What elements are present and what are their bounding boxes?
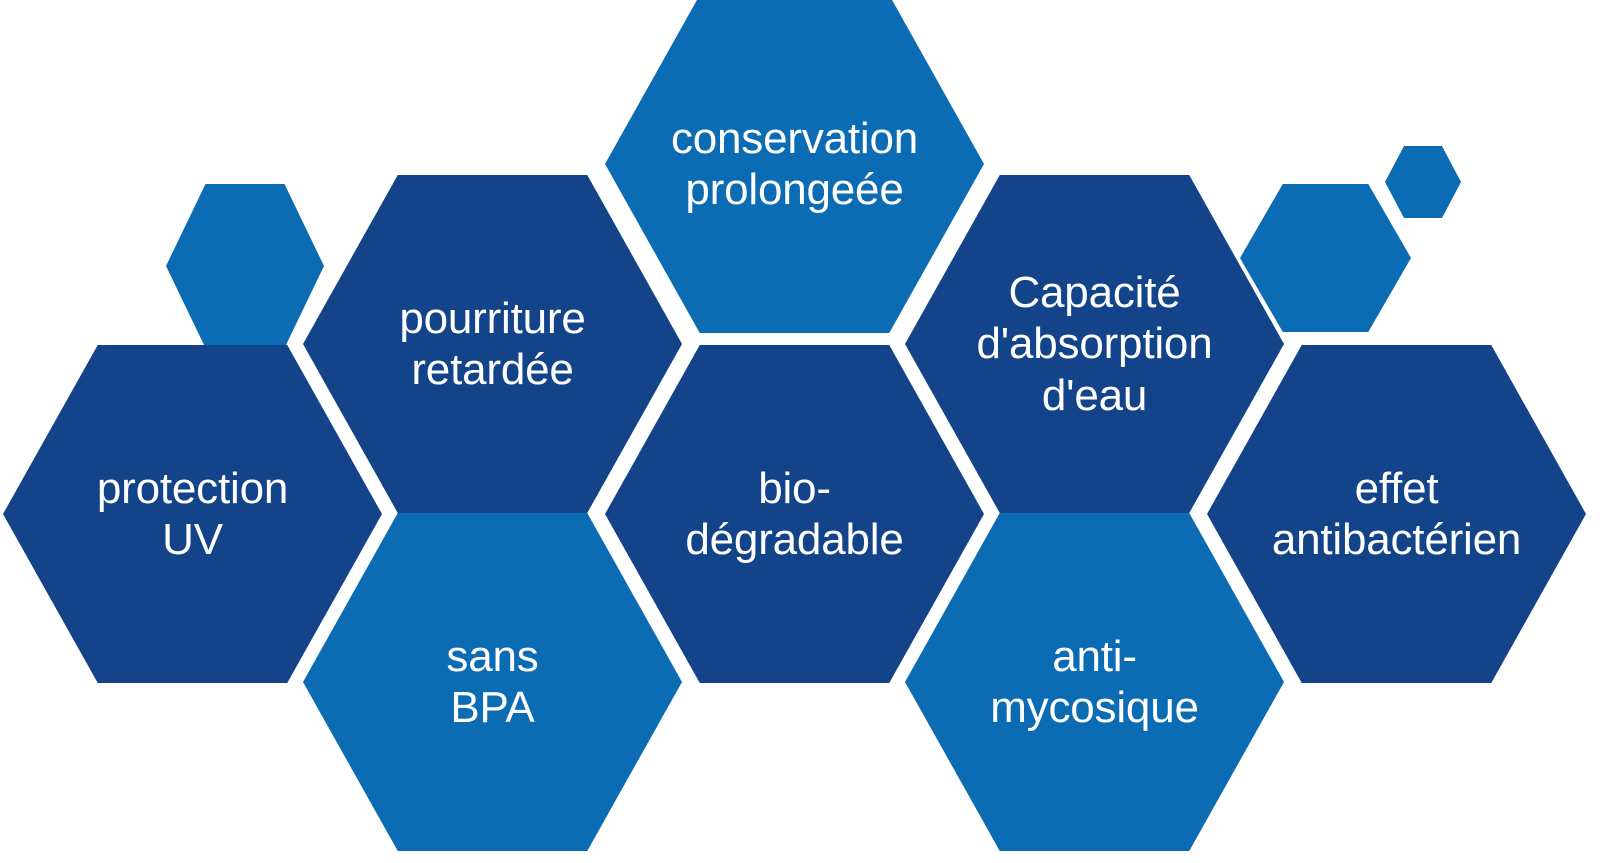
decorative-hexagon-deco-top-left [166,184,324,348]
hexagon-label-sans-bpa: sans BPA [416,631,569,733]
hexagon-capacite-absorption-eau[interactable]: Capacité d'absorption d'eau [905,175,1284,513]
hexagon-conservation-prolongee[interactable]: conservation prolongeée [605,0,984,333]
hexagon-label-pourriture-retardee: pourriture retardée [369,293,616,395]
hexagon-effet-antibacterien[interactable]: effet antibactérien [1207,345,1586,683]
hexagon-label-conservation-prolongee: conservation prolongeée [641,113,949,215]
hexagon-label-bio-degradable: bio- dégradable [655,463,934,565]
hexagon-bio-degradable[interactable]: bio- dégradable [605,345,984,683]
hexagon-sans-bpa[interactable]: sans BPA [303,513,682,851]
hexagon-anti-mycosique[interactable]: anti- mycosique [905,513,1284,851]
decorative-hexagon-deco-top-right-small [1385,146,1461,218]
hexagon-label-protection-uv: protection UV [67,463,319,565]
hexagon-protection-uv[interactable]: protection UV [3,345,382,683]
hexagon-label-capacite-absorption-eau: Capacité d'absorption d'eau [946,267,1243,420]
hexagon-pourriture-retardee[interactable]: pourriture retardée [303,175,682,513]
decorative-hexagon-deco-top-right-medium [1240,184,1411,332]
hexagon-label-anti-mycosique: anti- mycosique [960,631,1229,733]
hexagon-label-effet-antibacterien: effet antibactérien [1242,463,1552,565]
hexagon-diagram-canvas: protection UVpourriture retardéesans BPA… [0,0,1610,863]
